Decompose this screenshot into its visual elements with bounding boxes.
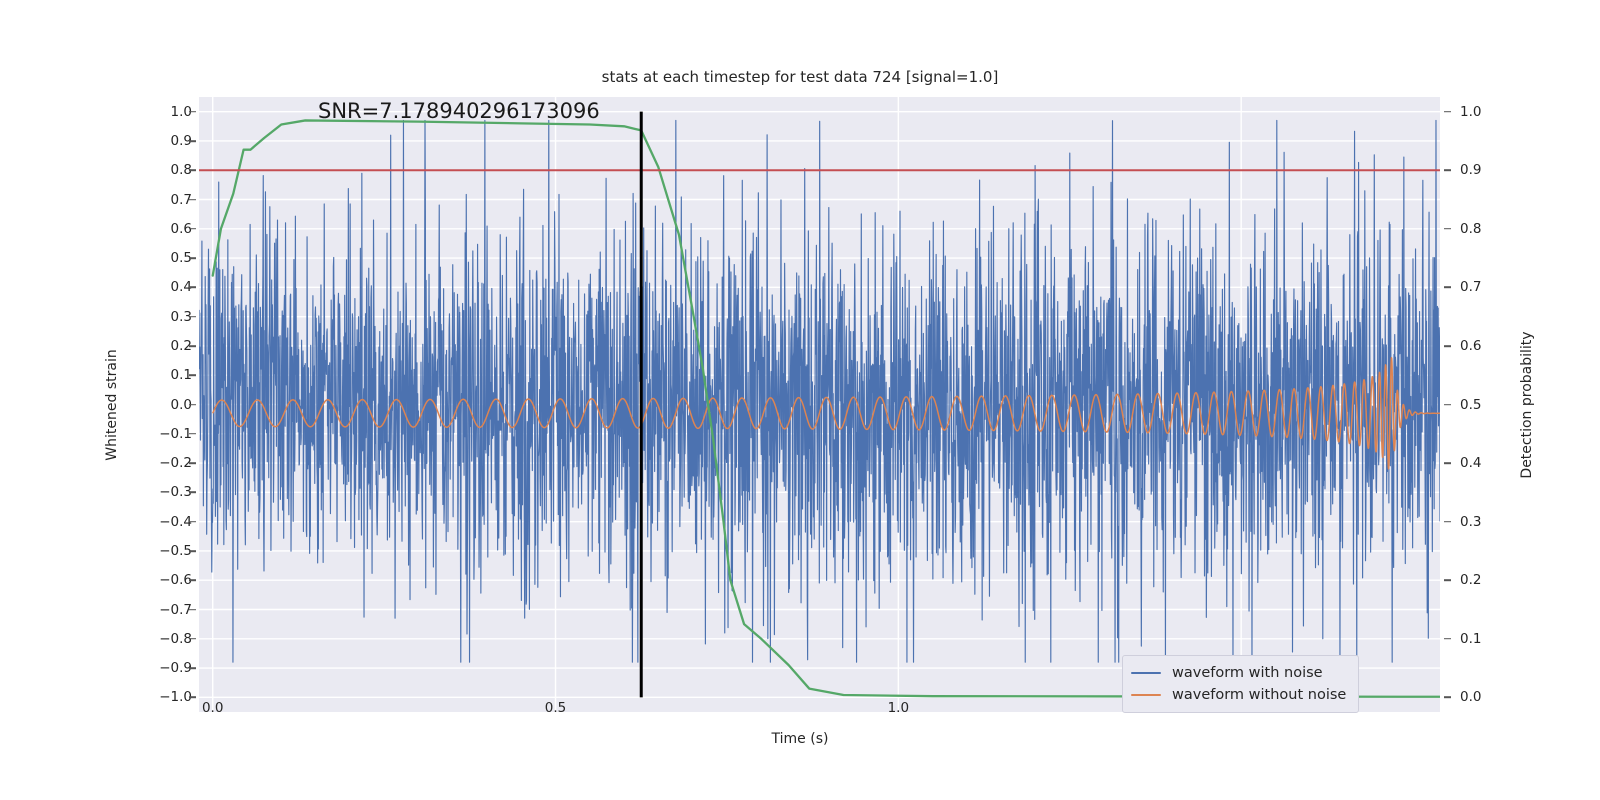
- y-tick-label-left: −0.6: [132, 572, 192, 588]
- y-tick-label-left: 0.7: [132, 192, 192, 208]
- y-tick-mark-right: [1444, 697, 1451, 699]
- y-tick-label-left: −0.2: [132, 455, 192, 471]
- y-tick-label-left: 0.8: [132, 162, 192, 178]
- y-tick-mark-right: [1444, 404, 1451, 406]
- y-tick-label-left: −0.5: [132, 543, 192, 559]
- y-tick-label-right: 0.3: [1460, 514, 1520, 530]
- y-tick-label-right: 0.8: [1460, 221, 1520, 237]
- chart-title: stats at each timestep for test data 724…: [0, 68, 1600, 86]
- y-tick-label-right: 0.9: [1460, 162, 1520, 178]
- y-tick-mark-left: [189, 638, 196, 640]
- y-tick-label-right: 0.1: [1460, 631, 1520, 647]
- legend-label: waveform without noise: [1172, 687, 1346, 703]
- y-tick-mark-right: [1444, 169, 1451, 171]
- y-tick-mark-left: [189, 609, 196, 611]
- y-tick-mark-right: [1444, 579, 1451, 581]
- figure-canvas: stats at each timestep for test data 724…: [0, 0, 1600, 800]
- plot-svg: [199, 97, 1440, 712]
- y-tick-label-right: 1.0: [1460, 104, 1520, 120]
- y-tick-mark-left: [189, 579, 196, 581]
- y-tick-label-left: 0.2: [132, 338, 192, 354]
- x-tick-label: 0.0: [183, 700, 243, 716]
- y-tick-label-left: 0.0: [132, 397, 192, 413]
- y-tick-label-left: −0.1: [132, 426, 192, 442]
- y-tick-mark-left: [189, 667, 196, 669]
- legend-entry[interactable]: waveform with noise: [1131, 662, 1346, 684]
- y-tick-mark-left: [189, 257, 196, 259]
- y-tick-label-left: −0.4: [132, 514, 192, 530]
- y-tick-label-right: 0.4: [1460, 455, 1520, 471]
- y-tick-mark-right: [1444, 521, 1451, 523]
- y-tick-label-left: 0.9: [132, 133, 192, 149]
- y-tick-mark-left: [189, 462, 196, 464]
- y-tick-mark-left: [189, 140, 196, 142]
- y-tick-mark-left: [189, 111, 196, 113]
- y-tick-mark-left: [189, 492, 196, 494]
- y-tick-mark-left: [189, 199, 196, 201]
- y-tick-mark-right: [1444, 638, 1451, 640]
- legend-entry[interactable]: waveform without noise: [1131, 684, 1346, 706]
- y-tick-mark-left: [189, 521, 196, 523]
- y-tick-label-left: −0.7: [132, 602, 192, 618]
- y-tick-label-right: 0.6: [1460, 338, 1520, 354]
- y-tick-label-right: 0.0: [1460, 689, 1520, 705]
- y-tick-label-left: 0.5: [132, 250, 192, 266]
- y-tick-mark-left: [189, 169, 196, 171]
- x-tick-label: 1.0: [868, 700, 928, 716]
- y-tick-label-left: 0.3: [132, 309, 192, 325]
- y-tick-mark-right: [1444, 111, 1451, 113]
- legend-swatch-icon: [1131, 694, 1161, 697]
- y-tick-label-right: 0.7: [1460, 279, 1520, 295]
- y-tick-mark-left: [189, 697, 196, 699]
- legend-swatch-icon: [1131, 672, 1161, 675]
- y-tick-label-right: 0.2: [1460, 572, 1520, 588]
- y-tick-label-left: −0.8: [132, 631, 192, 647]
- y-tick-mark-left: [189, 374, 196, 376]
- x-axis-label: Time (s): [772, 731, 829, 747]
- y-tick-mark-left: [189, 550, 196, 552]
- y-tick-mark-right: [1444, 462, 1451, 464]
- y-tick-mark-left: [189, 345, 196, 347]
- y-tick-mark-right: [1444, 228, 1451, 230]
- snr-annotation: SNR=7.178940296173096: [318, 99, 600, 123]
- y-tick-mark-right: [1444, 287, 1451, 289]
- y-tick-mark-left: [189, 287, 196, 289]
- y-tick-label-left: 0.4: [132, 279, 192, 295]
- y-tick-label-left: 1.0: [132, 104, 192, 120]
- chart-legend[interactable]: waveform with noisewaveform without nois…: [1122, 655, 1359, 713]
- series-waveform-with-noise: [199, 120, 1440, 662]
- legend-label: waveform with noise: [1172, 665, 1323, 681]
- plot-area[interactable]: [199, 97, 1440, 712]
- y-tick-label-left: 0.6: [132, 221, 192, 237]
- y-tick-label-right: 0.5: [1460, 397, 1520, 413]
- y-tick-mark-left: [189, 316, 196, 318]
- y-tick-label-left: −0.3: [132, 484, 192, 500]
- y-tick-label-left: −0.9: [132, 660, 192, 676]
- y-tick-mark-left: [189, 433, 196, 435]
- y-tick-mark-right: [1444, 345, 1451, 347]
- y-axis-label-right: Detection probability: [1519, 331, 1535, 478]
- y-tick-mark-left: [189, 404, 196, 406]
- y-axis-label-left: Whitened strain: [104, 349, 120, 460]
- x-tick-label: 0.5: [526, 700, 586, 716]
- y-tick-mark-left: [189, 228, 196, 230]
- y-tick-label-left: 0.1: [132, 367, 192, 383]
